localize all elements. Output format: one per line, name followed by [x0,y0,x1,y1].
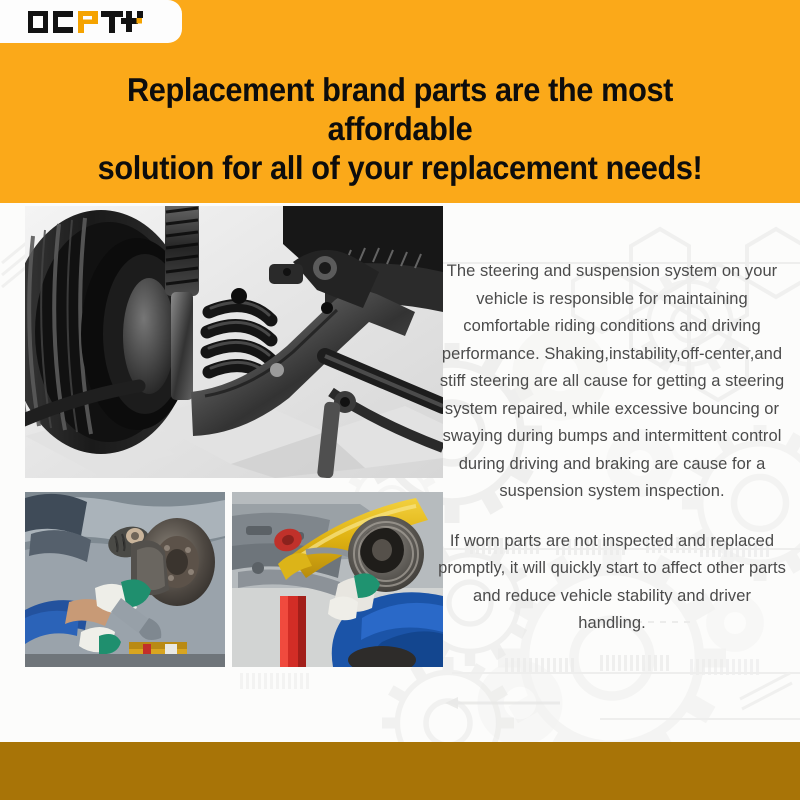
paragraph-1: The steering and suspension system on yo… [438,258,786,506]
mechanic-brake-rotor-photo [25,492,225,667]
headline-line-2: solution for all of your replacement nee… [65,148,735,187]
poster-header: Replacement brand parts are the most aff… [0,0,800,203]
brand-logo-plate[interactable] [0,0,182,43]
footer-bar [0,742,800,800]
promo-poster: Replacement brand parts are the most aff… [0,0,800,800]
mechanic-shock-absorber-photo [232,492,443,667]
body-copy: The steering and suspension system on yo… [438,258,786,638]
car-suspension-assembly-photo [25,206,443,478]
paragraph-2: If worn parts are not inspected and repl… [438,528,786,638]
headline-line-1: Replacement brand parts are the most aff… [65,70,735,148]
page-title: Replacement brand parts are the most aff… [65,70,735,187]
ocpty-wordmark-logo [27,9,155,35]
